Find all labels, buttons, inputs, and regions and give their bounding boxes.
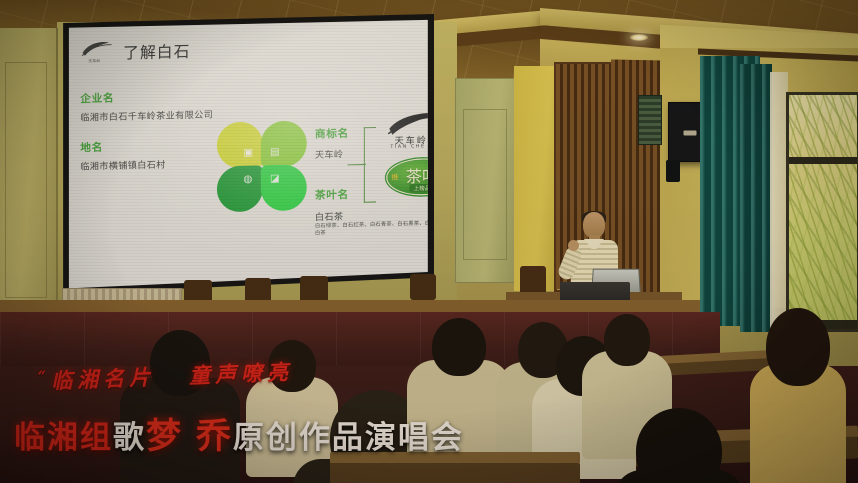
wall-door bbox=[455, 78, 515, 283]
badge-left-text: 推 bbox=[391, 172, 398, 182]
presentation-photo: 天车岭 了解白石 企业名 临湘市白石千车岭茶业有限公司 地名 临湘市横铺镇白石村… bbox=[0, 0, 858, 483]
field-label-company: 企业名 bbox=[80, 90, 114, 106]
audience-head bbox=[268, 340, 316, 392]
field-value-company: 临湘市白石千车岭茶业有限公司 bbox=[80, 107, 213, 123]
wall-panel-left bbox=[0, 28, 58, 328]
field-value-place: 临湘市横铺镇白石村 bbox=[80, 157, 165, 172]
field-label-place: 地名 bbox=[80, 140, 103, 156]
svg-text:天车岭: 天车岭 bbox=[88, 57, 100, 63]
audience-head bbox=[150, 330, 210, 396]
petal-top-left: ▣ bbox=[217, 121, 263, 168]
tea-brand-logo-icon: 天车岭 bbox=[80, 39, 115, 64]
globe-icon: ◍ bbox=[243, 175, 252, 185]
wall-panel-yellow bbox=[514, 66, 558, 291]
speaker-mount bbox=[666, 160, 680, 182]
slide-title: 了解白石 bbox=[123, 40, 190, 64]
leaf-icon: ◪ bbox=[270, 174, 280, 184]
presenter-hand bbox=[568, 240, 579, 251]
curtain-folds bbox=[740, 64, 772, 332]
audience-desk-front bbox=[330, 463, 580, 483]
audience-head bbox=[432, 318, 486, 376]
audience-head bbox=[766, 308, 830, 386]
downlight-4 bbox=[630, 34, 648, 41]
air-conditioner-icon bbox=[638, 95, 662, 145]
audience-head bbox=[604, 314, 650, 366]
slide-content: 天车岭 了解白石 企业名 临湘市白石千车岭茶业有限公司 地名 临湘市横铺镇白石村… bbox=[66, 18, 430, 290]
badge-bottom-text: 上榜品 bbox=[409, 184, 430, 193]
tea-varieties-list: 白石绿茶、白石红茶、白石青茶、白石黑茶、白石白茶 bbox=[315, 219, 430, 236]
four-petal-diagram: ▣ ▤ ◍ ◪ bbox=[217, 120, 307, 210]
window bbox=[786, 92, 858, 332]
location-icon: ▤ bbox=[270, 148, 280, 158]
factory-icon: ▣ bbox=[243, 148, 253, 158]
window-mullion bbox=[789, 157, 857, 164]
brand-logo-en: TIAN CHE LING bbox=[390, 144, 430, 150]
projection-screen-frame: 天车岭 了解白石 企业名 临湘市白石千车岭茶业有限公司 地名 临湘市横铺镇白石村… bbox=[62, 14, 434, 294]
petal-top-right: ▤ bbox=[261, 120, 307, 167]
curtain-right bbox=[740, 64, 772, 332]
petal-bottom-right: ◪ bbox=[261, 164, 307, 211]
tea-award-badge: 推 茶叶 上榜品 bbox=[386, 158, 430, 196]
chair bbox=[300, 276, 328, 302]
window-foliage bbox=[789, 95, 857, 329]
projection-screen: 天车岭 了解白石 企业名 临湘市白石千车岭茶业有限公司 地名 临湘市横铺镇白石村… bbox=[66, 18, 430, 290]
field-label-brand: 商标名 bbox=[315, 126, 349, 142]
field-value-brand: 天车岭 bbox=[315, 147, 343, 161]
chair bbox=[410, 274, 436, 300]
brand-logo-tianche: 天车岭 TIAN CHE LING bbox=[380, 109, 430, 158]
field-label-tea: 茶叶名 bbox=[315, 187, 349, 203]
petal-bottom-left: ◍ bbox=[217, 165, 263, 212]
